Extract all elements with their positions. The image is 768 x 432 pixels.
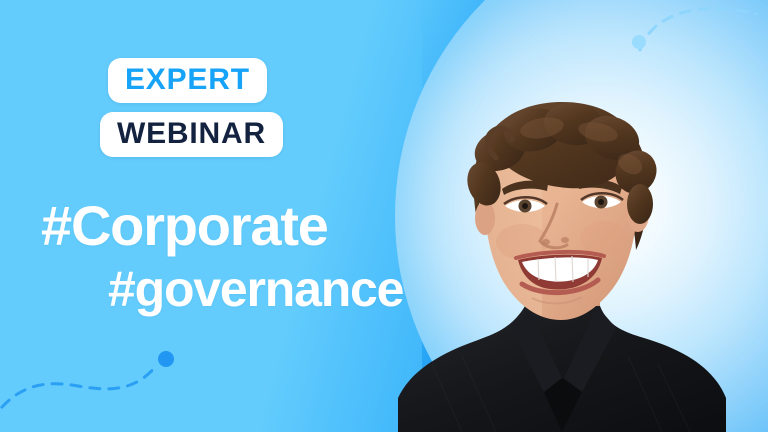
headline-line-1: #Corporate bbox=[41, 198, 403, 254]
headline: #Corporate #governance bbox=[41, 198, 403, 314]
speaker-portrait bbox=[392, 92, 768, 432]
badge-group: EXPERT WEBINAR bbox=[100, 58, 283, 157]
badge-webinar-label: WEBINAR bbox=[117, 119, 266, 149]
badge-expert: EXPERT bbox=[108, 58, 267, 103]
headline-line-2: #governance bbox=[108, 264, 403, 314]
portrait-ear-left bbox=[475, 201, 495, 235]
webinar-banner: EXPERT WEBINAR #Corporate #governance bbox=[0, 0, 768, 432]
badge-webinar: WEBINAR bbox=[100, 112, 283, 157]
badge-expert-label: EXPERT bbox=[125, 65, 250, 95]
